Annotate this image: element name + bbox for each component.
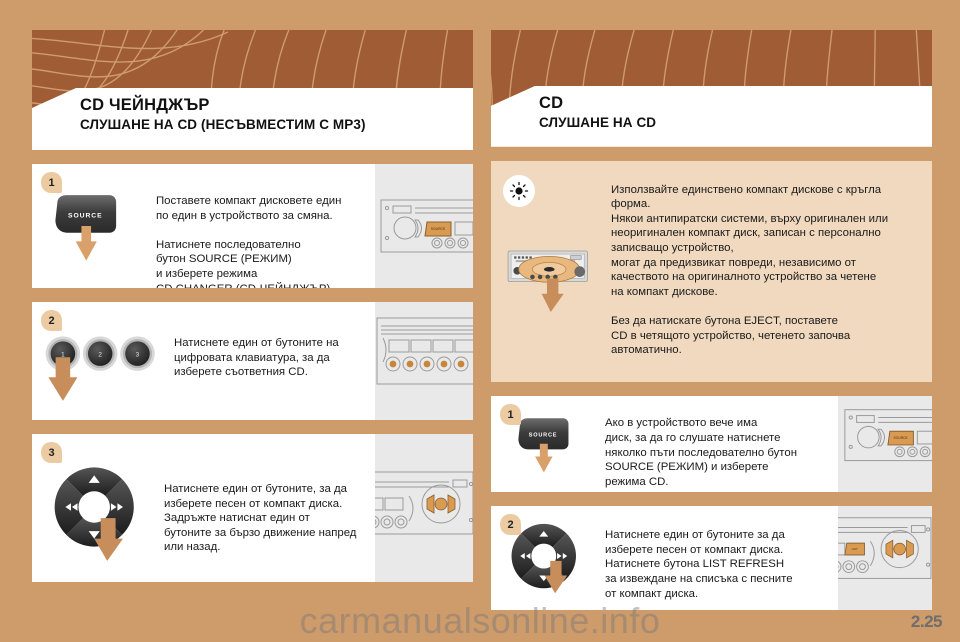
step-card: 1 SOURCE Ако в ус <box>491 396 932 492</box>
radio-panel-illustration: SOURCE <box>838 396 932 492</box>
step-card: 2 1 <box>32 302 473 420</box>
step-text: Поставете компакт дисковете един по един… <box>154 172 375 278</box>
radio-dpad-illustration: LIST <box>838 506 932 610</box>
step-badge: 3 <box>41 442 62 463</box>
step-text: Натиснете един от бутоните за да изберет… <box>603 514 838 600</box>
radio-panel-illustration: SOURCE <box>375 164 473 288</box>
lightbulb-icon <box>503 175 535 207</box>
svg-text:2: 2 <box>98 351 102 358</box>
column-cd-changer: CD ЧЕЙНДЖЪР СЛУШАНЕ НА CD (НЕСЪВМЕСТИМ С… <box>32 30 473 610</box>
svg-text:LIST: LIST <box>852 547 858 551</box>
step-text: Натиснете един от бутоните, за да избере… <box>162 442 375 572</box>
svg-text:3: 3 <box>136 351 140 358</box>
svg-text:SOURCE: SOURCE <box>529 433 558 439</box>
step-badge: 1 <box>500 404 521 425</box>
column-cd: CD СЛУШАНЕ НА CD <box>491 30 932 610</box>
tip-panel: Използвайте единствено компакт дискове с… <box>491 161 932 383</box>
section-title-left: CD ЧЕЙНДЖЪР СЛУШАНЕ НА CD (НЕСЪВМЕСТИМ С… <box>32 88 473 150</box>
radio-keypad-illustration <box>375 302 473 420</box>
step-content: SOURCE Поставете компакт дисковете един … <box>32 164 375 288</box>
thumbnail-radio-source: SOURCE <box>838 396 932 492</box>
step-card: 2 <box>491 506 932 610</box>
section-title: CD <box>539 93 932 113</box>
step-content: Натиснете един от бутоните за да изберет… <box>491 506 838 610</box>
step-badge: 2 <box>41 310 62 331</box>
thumbnail-radio-source: SOURCE <box>375 164 473 288</box>
thumbnail-radio-keypad <box>375 302 473 420</box>
manual-page: CD ЧЕЙНДЖЪР СЛУШАНЕ НА CD (НЕСЪВМЕСТИМ С… <box>0 0 960 640</box>
step-card: 3 <box>32 434 473 582</box>
section-title-right: CD СЛУШАНЕ НА CD <box>491 86 932 147</box>
tip-figure <box>491 171 609 369</box>
thumbnail-radio-dpad <box>375 434 473 582</box>
step-content: 1 2 3 Натиснете един от бутоните на цифр… <box>32 302 375 420</box>
page-number: 2.25 <box>911 612 942 632</box>
section-title: CD ЧЕЙНДЖЪР <box>80 95 473 115</box>
lightbulb-glyph <box>509 181 529 201</box>
radio-with-disc-illustration <box>491 219 609 373</box>
section-subtitle: СЛУШАНЕ НА CD (НЕСЪВМЕСТИМ С MP3) <box>80 116 473 134</box>
step-text: Ако в устройството вече има диск, за да … <box>603 404 838 482</box>
section-subtitle: СЛУШАНЕ НА CD <box>539 114 932 132</box>
thumbnail-radio-dpad: LIST <box>838 506 932 610</box>
step-badge: 2 <box>500 514 521 535</box>
svg-text:SOURCE: SOURCE <box>431 227 446 231</box>
step-card: 1 SOURCE Поставет <box>32 164 473 288</box>
tip-text: Използвайте единствено компакт дискове с… <box>609 171 932 369</box>
svg-text:SOURCE: SOURCE <box>68 212 103 219</box>
step-content: Натиснете един от бутоните, за да избере… <box>32 434 375 582</box>
step-content: SOURCE Ако в устройството вече има диск,… <box>491 396 838 492</box>
step-text: Натиснете един от бутоните на цифровата … <box>172 310 375 410</box>
step-badge: 1 <box>41 172 62 193</box>
radio-dpad-illustration <box>375 434 473 582</box>
svg-text:SOURCE: SOURCE <box>894 436 909 440</box>
